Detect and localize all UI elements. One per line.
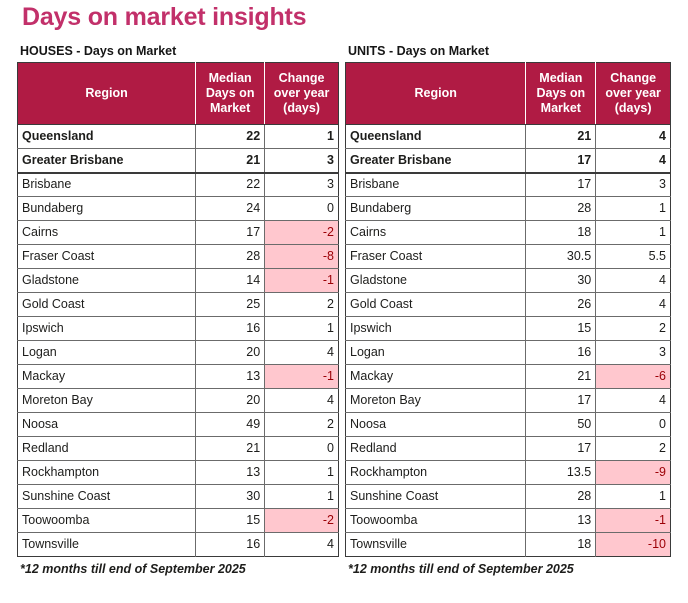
units-change-cell: 4	[596, 125, 671, 149]
houses-median-cell: 13	[196, 365, 265, 389]
houses-median-cell: 16	[196, 533, 265, 557]
table-row: Brisbane173	[346, 173, 671, 197]
houses-change-cell: 0	[265, 437, 339, 461]
units-col-header-region-label: Region	[350, 86, 521, 101]
table-row: Mackay21-6	[346, 365, 671, 389]
houses-change-line-3: (days)	[269, 101, 334, 116]
units-median-cell: 17	[526, 389, 596, 413]
houses-median-cell: 17	[196, 221, 265, 245]
houses-change-cell: 3	[265, 149, 339, 173]
houses-change-cell: 1	[265, 461, 339, 485]
units-median-cell: 21	[526, 365, 596, 389]
units-change-line-1: Change	[600, 71, 666, 86]
houses-header-row: Region Median Days on Market Change over…	[18, 63, 339, 125]
units-median-cell: 15	[526, 317, 596, 341]
table-row: Logan204	[18, 341, 339, 365]
houses-region-cell: Townsville	[18, 533, 196, 557]
houses-change-cell: -1	[265, 269, 339, 293]
units-median-line-2: Days on	[530, 86, 591, 101]
page-title: Days on market insights	[22, 3, 306, 32]
units-change-cell: 3	[596, 173, 671, 197]
units-median-cell: 28	[526, 485, 596, 509]
units-region-cell: Mackay	[346, 365, 526, 389]
houses-change-cell: 2	[265, 293, 339, 317]
units-table: Region Median Days on Market Change over…	[345, 62, 671, 557]
table-row: Greater Brisbane213	[18, 149, 339, 173]
units-median-cell: 50	[526, 413, 596, 437]
houses-region-cell: Brisbane	[18, 173, 196, 197]
units-region-cell: Greater Brisbane	[346, 149, 526, 173]
houses-median-cell: 21	[196, 437, 265, 461]
units-region-cell: Bundaberg	[346, 197, 526, 221]
units-change-cell: 1	[596, 485, 671, 509]
houses-median-cell: 22	[196, 173, 265, 197]
houses-median-cell: 20	[196, 341, 265, 365]
units-median-cell: 13.5	[526, 461, 596, 485]
houses-region-cell: Rockhampton	[18, 461, 196, 485]
houses-region-cell: Gladstone	[18, 269, 196, 293]
houses-median-cell: 16	[196, 317, 265, 341]
houses-median-cell: 20	[196, 389, 265, 413]
table-row: Townsville18-10	[346, 533, 671, 557]
table-row: Noosa500	[346, 413, 671, 437]
table-row: Bundaberg281	[346, 197, 671, 221]
houses-change-cell: 1	[265, 125, 339, 149]
units-change-line-3: (days)	[600, 101, 666, 116]
houses-region-cell: Moreton Bay	[18, 389, 196, 413]
table-row: Queensland214	[346, 125, 671, 149]
units-table-footnote: *12 months till end of September 2025	[345, 557, 671, 577]
units-region-cell: Townsville	[346, 533, 526, 557]
houses-table-block: HOUSES - Days on Market Region Median Da…	[17, 44, 339, 577]
units-col-header-region: Region	[346, 63, 526, 125]
units-region-cell: Noosa	[346, 413, 526, 437]
units-median-cell: 16	[526, 341, 596, 365]
units-median-cell: 30	[526, 269, 596, 293]
houses-median-cell: 14	[196, 269, 265, 293]
houses-region-cell: Redland	[18, 437, 196, 461]
units-change-cell: 2	[596, 317, 671, 341]
table-row: Greater Brisbane174	[346, 149, 671, 173]
houses-col-header-region-label: Region	[22, 86, 191, 101]
units-change-line-2: over year	[600, 86, 666, 101]
houses-region-cell: Ipswich	[18, 317, 196, 341]
units-change-cell: 1	[596, 197, 671, 221]
table-row: Ipswich161	[18, 317, 339, 341]
units-col-header-median: Median Days on Market	[526, 63, 596, 125]
units-region-cell: Cairns	[346, 221, 526, 245]
units-change-cell: 5.5	[596, 245, 671, 269]
units-region-cell: Logan	[346, 341, 526, 365]
units-region-cell: Fraser Coast	[346, 245, 526, 269]
units-change-cell: 4	[596, 293, 671, 317]
units-change-cell: 4	[596, 149, 671, 173]
table-row: Fraser Coast28-8	[18, 245, 339, 269]
houses-region-cell: Cairns	[18, 221, 196, 245]
units-col-header-change: Change over year (days)	[596, 63, 671, 125]
table-row: Sunshine Coast281	[346, 485, 671, 509]
houses-table-head: Region Median Days on Market Change over…	[18, 63, 339, 125]
units-median-cell: 13	[526, 509, 596, 533]
houses-change-cell: 1	[265, 485, 339, 509]
houses-change-cell: -2	[265, 509, 339, 533]
houses-median-line-1: Median	[200, 71, 260, 86]
table-row: Brisbane223	[18, 173, 339, 197]
table-row: Ipswich152	[346, 317, 671, 341]
houses-median-line-2: Days on	[200, 86, 260, 101]
units-region-cell: Gladstone	[346, 269, 526, 293]
units-change-cell: 3	[596, 341, 671, 365]
houses-region-cell: Gold Coast	[18, 293, 196, 317]
houses-median-line-3: Market	[200, 101, 260, 116]
table-row: Rockhampton131	[18, 461, 339, 485]
table-row: Rockhampton13.5-9	[346, 461, 671, 485]
houses-region-cell: Greater Brisbane	[18, 149, 196, 173]
units-region-cell: Toowoomba	[346, 509, 526, 533]
houses-median-cell: 24	[196, 197, 265, 221]
units-region-cell: Redland	[346, 437, 526, 461]
houses-table-body: Queensland221Greater Brisbane213Brisbane…	[18, 125, 339, 557]
houses-col-header-median: Median Days on Market	[196, 63, 265, 125]
table-row: Noosa492	[18, 413, 339, 437]
units-change-cell: -9	[596, 461, 671, 485]
houses-region-cell: Bundaberg	[18, 197, 196, 221]
houses-change-line-2: over year	[269, 86, 334, 101]
units-median-cell: 18	[526, 221, 596, 245]
table-row: Bundaberg240	[18, 197, 339, 221]
units-median-line-3: Market	[530, 101, 591, 116]
units-median-cell: 17	[526, 149, 596, 173]
houses-median-cell: 13	[196, 461, 265, 485]
units-region-cell: Sunshine Coast	[346, 485, 526, 509]
table-row: Cairns181	[346, 221, 671, 245]
table-row: Gold Coast264	[346, 293, 671, 317]
houses-median-cell: 30	[196, 485, 265, 509]
units-change-cell: -10	[596, 533, 671, 557]
houses-change-cell: 0	[265, 197, 339, 221]
houses-median-cell: 15	[196, 509, 265, 533]
units-region-cell: Ipswich	[346, 317, 526, 341]
units-region-cell: Rockhampton	[346, 461, 526, 485]
units-median-cell: 17	[526, 437, 596, 461]
houses-change-cell: -8	[265, 245, 339, 269]
units-table-head: Region Median Days on Market Change over…	[346, 63, 671, 125]
table-row: Gold Coast252	[18, 293, 339, 317]
houses-table-footnote: *12 months till end of September 2025	[17, 557, 339, 577]
table-row: Logan163	[346, 341, 671, 365]
table-row: Moreton Bay174	[346, 389, 671, 413]
units-header-row: Region Median Days on Market Change over…	[346, 63, 671, 125]
houses-col-header-change: Change over year (days)	[265, 63, 339, 125]
table-row: Sunshine Coast301	[18, 485, 339, 509]
houses-change-cell: -1	[265, 365, 339, 389]
units-change-cell: 4	[596, 269, 671, 293]
units-change-cell: -1	[596, 509, 671, 533]
houses-change-cell: 2	[265, 413, 339, 437]
houses-median-cell: 49	[196, 413, 265, 437]
houses-change-cell: 4	[265, 389, 339, 413]
table-row: Townsville164	[18, 533, 339, 557]
units-table-caption: UNITS - Days on Market	[345, 44, 671, 62]
houses-median-cell: 21	[196, 149, 265, 173]
table-row: Queensland221	[18, 125, 339, 149]
houses-median-cell: 25	[196, 293, 265, 317]
houses-table-caption: HOUSES - Days on Market	[17, 44, 339, 62]
table-row: Toowoomba15-2	[18, 509, 339, 533]
table-row: Moreton Bay204	[18, 389, 339, 413]
table-row: Gladstone304	[346, 269, 671, 293]
units-region-cell: Moreton Bay	[346, 389, 526, 413]
units-median-cell: 26	[526, 293, 596, 317]
table-row: Cairns17-2	[18, 221, 339, 245]
table-row: Fraser Coast30.55.5	[346, 245, 671, 269]
houses-region-cell: Sunshine Coast	[18, 485, 196, 509]
units-region-cell: Gold Coast	[346, 293, 526, 317]
units-change-cell: 0	[596, 413, 671, 437]
table-row: Redland210	[18, 437, 339, 461]
houses-change-cell: -2	[265, 221, 339, 245]
houses-median-cell: 28	[196, 245, 265, 269]
houses-change-line-1: Change	[269, 71, 334, 86]
units-median-cell: 17	[526, 173, 596, 197]
table-row: Toowoomba13-1	[346, 509, 671, 533]
units-change-cell: 2	[596, 437, 671, 461]
table-row: Mackay13-1	[18, 365, 339, 389]
houses-table: Region Median Days on Market Change over…	[17, 62, 339, 557]
days-on-market-insights-page: Days on market insights HOUSES - Days on…	[0, 0, 688, 603]
table-row: Gladstone14-1	[18, 269, 339, 293]
houses-change-cell: 3	[265, 173, 339, 197]
tables-container: HOUSES - Days on Market Region Median Da…	[0, 44, 688, 577]
units-median-cell: 30.5	[526, 245, 596, 269]
units-region-cell: Brisbane	[346, 173, 526, 197]
houses-region-cell: Noosa	[18, 413, 196, 437]
units-median-cell: 21	[526, 125, 596, 149]
units-change-cell: 4	[596, 389, 671, 413]
houses-region-cell: Fraser Coast	[18, 245, 196, 269]
houses-region-cell: Toowoomba	[18, 509, 196, 533]
units-median-line-1: Median	[530, 71, 591, 86]
houses-region-cell: Mackay	[18, 365, 196, 389]
units-table-body: Queensland214Greater Brisbane174Brisbane…	[346, 125, 671, 557]
units-median-cell: 28	[526, 197, 596, 221]
houses-region-cell: Logan	[18, 341, 196, 365]
houses-change-cell: 1	[265, 317, 339, 341]
houses-change-cell: 4	[265, 533, 339, 557]
units-table-block: UNITS - Days on Market Region Median Day…	[345, 44, 671, 577]
units-region-cell: Queensland	[346, 125, 526, 149]
units-change-cell: -6	[596, 365, 671, 389]
table-row: Redland172	[346, 437, 671, 461]
houses-median-cell: 22	[196, 125, 265, 149]
houses-region-cell: Queensland	[18, 125, 196, 149]
units-median-cell: 18	[526, 533, 596, 557]
houses-change-cell: 4	[265, 341, 339, 365]
units-change-cell: 1	[596, 221, 671, 245]
houses-col-header-region: Region	[18, 63, 196, 125]
